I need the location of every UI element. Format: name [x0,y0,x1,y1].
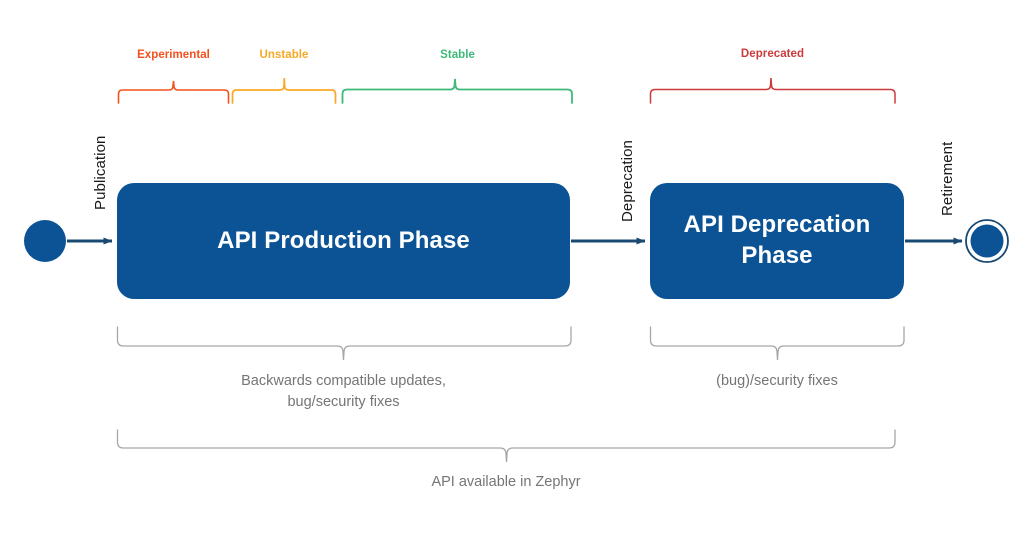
phase-box-api-production[interactable]: API Production Phase [117,183,570,299]
bracket-label-experimental: Experimental [118,49,229,61]
bracket-stable [343,79,573,103]
initial-state-node [24,220,66,262]
final-state-node-ring [966,220,1008,262]
phase-box-label-deprecation: API Deprecation Phase [670,210,885,271]
bracket-production-note [118,327,572,360]
transition-label-retirement: Retirement [939,142,956,216]
transition-label-publication: Publication [92,136,109,210]
final-state-node-core [971,225,1004,258]
note-label-production: Backwards compatible updates, bug/securi… [117,371,570,412]
phase-box-api-deprecation[interactable]: API Deprecation Phase [650,183,904,299]
bracket-deprecated [651,78,896,103]
api-lifecycle-diagram: Experimental Unstable Stable Deprecated … [0,0,1036,537]
bracket-overall-note [118,430,896,462]
transition-label-deprecation: Deprecation [619,140,636,222]
bracket-label-deprecated: Deprecated [650,48,895,60]
note-label-overall: API available in Zephyr [117,472,895,493]
bracket-unstable [233,78,336,103]
note-label-deprecation: (bug)/security fixes [650,371,904,392]
bracket-label-unstable: Unstable [232,49,336,61]
bracket-label-stable: Stable [342,49,573,61]
bracket-experimental [119,81,229,103]
phase-box-label-production: API Production Phase [203,226,484,257]
bracket-deprecation-note [651,327,905,360]
